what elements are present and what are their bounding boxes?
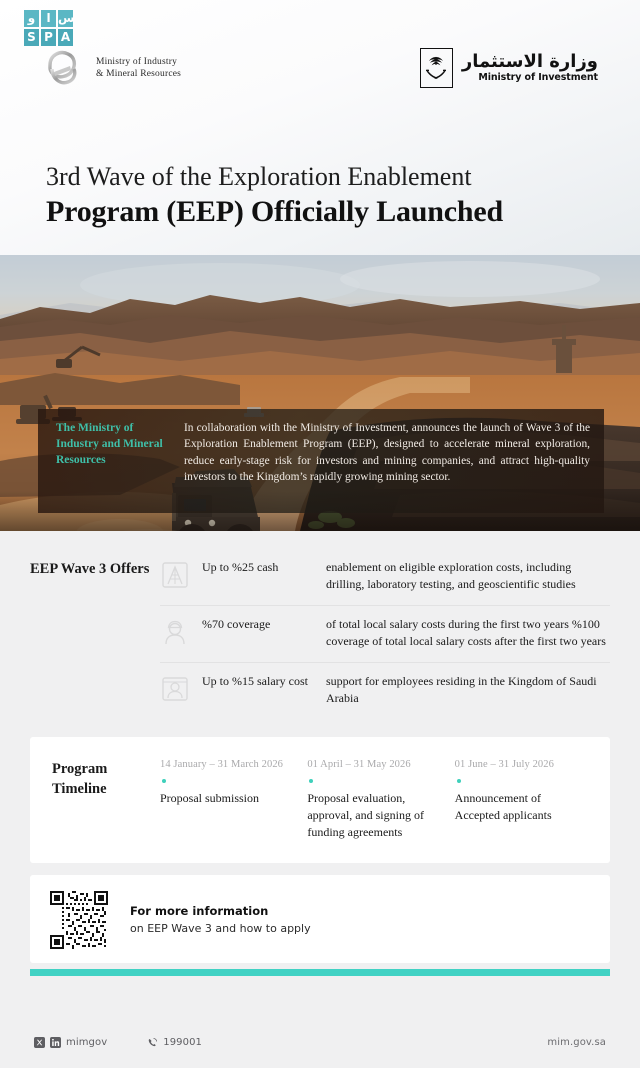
spa-glyph-seen: س <box>58 10 73 27</box>
spa-glyph-s: S <box>24 29 39 46</box>
timeline-step-date: 01 June – 31 July 2026 <box>455 757 588 772</box>
logo-bar: و ا س S P A <box>0 0 640 105</box>
spa-glyph-a: A <box>58 29 73 46</box>
qr-code-icon[interactable] <box>50 891 108 949</box>
timeline-step: 01 April – 31 May 2026 Proposal evaluati… <box>307 757 440 841</box>
headline-line-1: 3rd Wave of the Exploration Enablement <box>46 160 610 193</box>
accent-bar <box>30 969 610 976</box>
offer-row: %70 coverage of total local salary costs… <box>160 605 610 662</box>
ministry-of-industry-logo: Ministry of Industry & Mineral Resources <box>40 45 181 91</box>
spa-logo-row-arabic: و ا س <box>24 10 76 27</box>
drilling-rig-icon <box>160 560 190 590</box>
timeline-steps: 14 January – 31 March 2026 Proposal subm… <box>160 757 588 841</box>
offer-row: Up to %25 cash enablement on eligible ex… <box>160 549 610 605</box>
program-timeline-card: Program Timeline 14 January – 31 March 2… <box>30 737 610 863</box>
hero-body-text: In collaboration with the Ministry of In… <box>176 420 590 503</box>
spa-logo-row-latin: S P A <box>24 29 76 46</box>
footer-social-handle[interactable]: mimgov <box>66 1037 107 1048</box>
moi-arabic-name: وزارة الاستثمار <box>462 52 598 72</box>
timeline-dot-icon <box>457 779 461 783</box>
timeline-step: 14 January – 31 March 2026 Proposal subm… <box>160 757 293 841</box>
more-information-subheading: on EEP Wave 3 and how to apply <box>130 920 311 938</box>
offers-list: Up to %25 cash enablement on eligible ex… <box>160 549 610 719</box>
moi-english-name: Ministry of Investment <box>462 72 598 84</box>
offer-amount: Up to %15 salary cost <box>190 673 326 690</box>
headline-line-2: Program (EEP) Officially Launched <box>46 193 610 231</box>
header: و ا س S P A <box>0 0 640 255</box>
offer-description: support for employees residing in the Ki… <box>326 673 610 707</box>
hero-image: The Ministry of Industry and Mineral Res… <box>0 255 640 531</box>
ministry-of-industry-label: Ministry of Industry & Mineral Resources <box>96 56 181 80</box>
housing-support-icon <box>160 674 190 704</box>
footer-phone-number[interactable]: 199001 <box>163 1037 202 1048</box>
ministry-of-investment-label: وزارة الاستثمار Ministry of Investment <box>462 52 598 84</box>
offers-section: EEP Wave 3 Offers Up to %25 cash enablem… <box>0 531 640 729</box>
hero-source-label: The Ministry of Industry and Mineral Res… <box>56 420 176 503</box>
mim-ribbon-mark-icon <box>40 45 86 91</box>
spa-glyph-alef: ا <box>41 10 56 27</box>
offers-section-title: EEP Wave 3 Offers <box>30 549 160 719</box>
spa-glyph-p: P <box>41 29 56 46</box>
more-information-card: For more information on EEP Wave 3 and h… <box>30 875 610 963</box>
offer-amount: Up to %25 cash <box>190 559 326 576</box>
timeline-step-label: Proposal submission <box>160 790 293 807</box>
timeline-section-title: Program Timeline <box>52 757 160 841</box>
timeline-step-date: 14 January – 31 March 2026 <box>160 757 293 772</box>
footer-website[interactable]: mim.gov.sa <box>547 1037 606 1048</box>
timeline-step-label: Announcement of Accepted applicants <box>455 790 588 824</box>
timeline-dot-icon <box>162 779 166 783</box>
timeline-dot-icon <box>309 779 313 783</box>
palm-and-swords-icon <box>425 53 447 83</box>
page-title: 3rd Wave of the Exploration Enablement P… <box>46 160 610 231</box>
ministry-of-investment-logo: وزارة الاستثمار Ministry of Investment <box>420 48 598 88</box>
timeline-step-date: 01 April – 31 May 2026 <box>307 757 440 772</box>
offer-amount: %70 coverage <box>190 616 326 633</box>
mim-line-2: & Mineral Resources <box>96 68 181 80</box>
poster: و ا س S P A <box>0 0 640 1068</box>
footer-phone[interactable]: 199001 <box>147 1037 202 1048</box>
linkedin-icon[interactable] <box>50 1037 61 1048</box>
footer: mimgov 199001 mim.gov.sa <box>0 1016 640 1068</box>
x-twitter-icon[interactable] <box>34 1037 45 1048</box>
saudi-emblem-icon <box>420 48 453 88</box>
worker-helmet-icon <box>160 617 190 647</box>
footer-social[interactable]: mimgov <box>34 1037 107 1048</box>
mim-line-1: Ministry of Industry <box>96 56 181 68</box>
more-information-text: For more information on EEP Wave 3 and h… <box>130 902 311 938</box>
timeline-step: 01 June – 31 July 2026 Announcement of A… <box>455 757 588 841</box>
spa-glyph-waw: و <box>24 10 39 27</box>
offer-row: Up to %15 salary cost support for employ… <box>160 662 610 719</box>
timeline-step-label: Proposal evaluation, approval, and signi… <box>307 790 440 841</box>
phone-icon <box>147 1037 158 1048</box>
offer-description: enablement on eligible exploration costs… <box>326 559 610 593</box>
offer-description: of total local salary costs during the f… <box>326 616 610 650</box>
more-information-heading: For more information <box>130 902 311 920</box>
hero-overlay-card: The Ministry of Industry and Mineral Res… <box>38 409 604 513</box>
